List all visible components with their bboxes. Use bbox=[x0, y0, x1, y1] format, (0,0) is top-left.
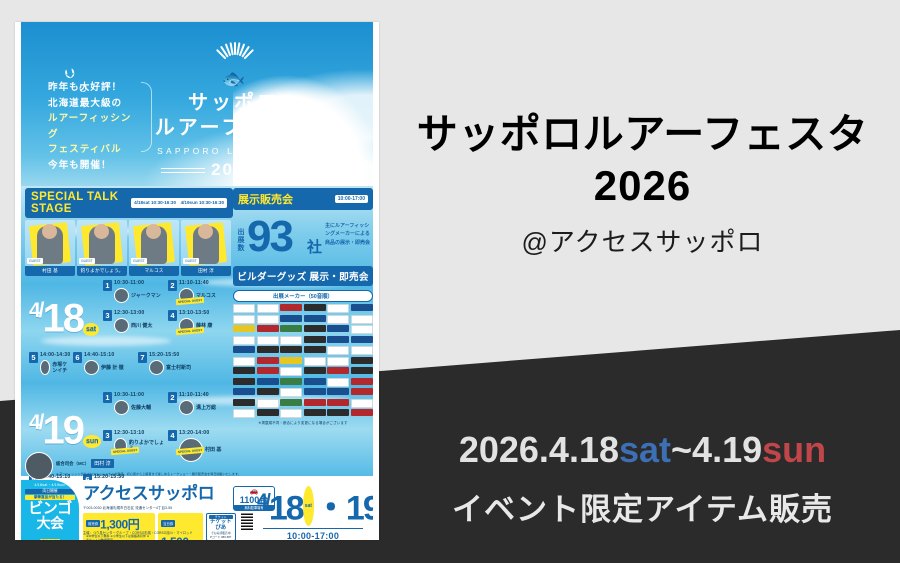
maker-logo bbox=[327, 378, 349, 387]
lead-line-5: 今年も開催！ bbox=[48, 158, 140, 174]
maker-logo bbox=[233, 336, 255, 345]
maker-logo bbox=[351, 336, 373, 343]
maker-logo bbox=[233, 378, 255, 385]
slot-guest: 富士村新司 bbox=[166, 365, 191, 371]
maker-logo bbox=[304, 388, 326, 395]
talent-tag: GUEST bbox=[79, 258, 95, 264]
maker-logo bbox=[304, 367, 326, 374]
bingo-line1: ビンゴ bbox=[21, 501, 79, 516]
talk-stage-banner: SPECIAL TALK STAGE 4/18sat 10:30-16:30 4… bbox=[25, 188, 233, 218]
talent-tag: GUEST bbox=[27, 258, 43, 264]
maker-logo bbox=[304, 409, 326, 416]
maker-logo bbox=[233, 399, 255, 406]
presenter-note: ルアーフィッシングのプロフェッショナルが集結。初心者から上級者まで楽しめるトーク… bbox=[56, 472, 369, 477]
maker-logo bbox=[257, 336, 279, 345]
maker-logo bbox=[327, 336, 349, 343]
fish-icon: 🐟 bbox=[149, 70, 319, 89]
day-1-month: 4/ bbox=[29, 299, 43, 322]
slot-time: 12:30-13:00 bbox=[114, 310, 144, 316]
slot-row: 5 14:00-14:30 赤塚ケンイチ 6 14:40-15:10 伊藤 計 … bbox=[103, 352, 233, 380]
exhibitor-count-unit: 社 bbox=[307, 236, 322, 257]
presenter-role: 総合司会（MC） bbox=[56, 461, 89, 466]
maker-logo bbox=[280, 409, 302, 418]
big-month: 4/ bbox=[257, 491, 269, 512]
poster-hours: 10:00-17:00 bbox=[257, 531, 369, 540]
day-1-day: 18 bbox=[43, 296, 84, 340]
logo-jp-line1: サッポロ bbox=[149, 91, 319, 116]
slot-row: 3 12:30-13:00 西川 健太 4 13:10-13:50 藤林 康 S… bbox=[103, 310, 233, 338]
price-row: 前売券1,300円 ※中学生以下無料 ※小学生以下は保護者同伴 ※チケットは数量… bbox=[83, 513, 253, 540]
maker-logo bbox=[233, 367, 255, 374]
maker-logo bbox=[280, 399, 302, 406]
slot-number: 4 bbox=[168, 310, 177, 321]
guest-avatar bbox=[179, 400, 194, 415]
day-2-month: 4/ bbox=[29, 411, 43, 434]
maker-logo bbox=[351, 315, 373, 324]
builder-goods-banner: ビルダーグッズ 展示・即売会 bbox=[233, 266, 373, 286]
slot-time: 14:40-15:10 bbox=[84, 352, 114, 358]
maker-logo bbox=[257, 388, 279, 395]
maker-logo bbox=[351, 304, 373, 311]
guest-avatar bbox=[149, 360, 164, 375]
event-venue: @アクセスサッポロ bbox=[385, 222, 900, 259]
poster-lead-copy: 昨年も大好評！ 北海道最大級の ルアーフィッシング フェスティバル 今年も開催！ bbox=[48, 80, 140, 173]
screenshot-root: ⮋ ⮋ 🐟 サッポロ ルアーフェスタ SAPPORO LURE FEST bbox=[0, 0, 900, 563]
maker-logo bbox=[280, 367, 302, 376]
maker-logo bbox=[257, 357, 279, 364]
maker-logo bbox=[233, 357, 255, 366]
big-day-1: 18 bbox=[269, 489, 303, 527]
maker-logo bbox=[280, 346, 302, 353]
slot-number: 5 bbox=[29, 352, 38, 363]
big-dot: ・ bbox=[314, 489, 346, 527]
slot-number: 6 bbox=[73, 352, 82, 363]
door-price: 当日券1,500円 前売券は数量限定 bbox=[158, 513, 203, 540]
maker-logo bbox=[233, 388, 255, 395]
maker-logo bbox=[327, 357, 349, 366]
slot-time: 11:10-11:40 bbox=[179, 280, 209, 286]
maker-logo bbox=[304, 399, 326, 406]
maker-logo bbox=[351, 388, 373, 395]
slot-number: 2 bbox=[168, 392, 177, 403]
event-year: 2026 bbox=[385, 162, 900, 210]
slot-number: 1 bbox=[103, 392, 112, 403]
maker-logo bbox=[327, 367, 349, 374]
logo-jp-line2: ルアーフェスタ bbox=[149, 116, 319, 141]
slot-guest: ジャークマン bbox=[131, 293, 161, 299]
lead-line-2: 北海道最大級の bbox=[48, 96, 140, 112]
door-amount: 1,500円 bbox=[161, 535, 189, 540]
advance-label: 前売券 bbox=[86, 520, 100, 527]
door-label: 当日券 bbox=[161, 520, 175, 527]
maker-logo bbox=[257, 399, 279, 408]
maker-logo bbox=[257, 346, 279, 353]
maker-logo bbox=[257, 325, 279, 332]
date-sun: sun bbox=[762, 429, 826, 470]
lead-line-3: ルアーフィッシング bbox=[48, 111, 140, 142]
day-1-date: 4/18sat bbox=[29, 292, 99, 349]
slot-number: 3 bbox=[103, 430, 112, 441]
bingo-side: 参加無料 bbox=[40, 539, 60, 540]
maker-logo bbox=[280, 325, 302, 332]
organizer-line: 主催：つり具センターグループ・CORSO札幌・CORSO旭川・マイロッド bbox=[83, 530, 193, 535]
logo-year: 2026 bbox=[211, 160, 257, 180]
slot-time: 10:30-11:00 bbox=[114, 392, 144, 398]
guest-avatar bbox=[84, 360, 99, 375]
talent-tag: GUEST bbox=[183, 258, 199, 264]
day-1-weekday: sat bbox=[83, 323, 99, 336]
access-title: アクセスサッポロ bbox=[83, 484, 253, 504]
maker-logo bbox=[257, 367, 279, 374]
event-subtitle: イベント限定アイテム販売 bbox=[385, 484, 900, 529]
maker-logo bbox=[304, 357, 326, 366]
maker-logo bbox=[351, 367, 373, 374]
talent-name: 釣りよかでしょう。 bbox=[77, 266, 127, 276]
maker-logo bbox=[233, 304, 255, 313]
maker-logo bbox=[233, 325, 255, 332]
talent-row: GUEST 村田 基 GUEST 釣りよかでしょう。 GUEST マルコス bbox=[25, 220, 233, 276]
schedule-slot: 3 12:30-13:00 西川 健太 bbox=[103, 310, 166, 338]
maker-logo bbox=[304, 378, 326, 385]
talent-card: GUEST マルコス bbox=[129, 220, 179, 276]
presenter-text: 総合司会（MC）田村 淳 ルアーフィッシングのプロフェッショナルが集結。初心者か… bbox=[56, 452, 369, 477]
logo-rule-left bbox=[161, 168, 205, 173]
slot-guest: 佐藤大輔 bbox=[131, 405, 151, 411]
bingo-sub: 4/18sat・4/19sun bbox=[21, 483, 79, 488]
schedule-slot: 1 10:30-11:00 佐藤大輔 bbox=[103, 392, 166, 420]
qr-code-icon[interactable] bbox=[241, 513, 253, 530]
slot-number: 3 bbox=[103, 310, 112, 321]
slot-row: 1 10:30-11:00 佐藤大輔 2 11:10-11:40 溝上万総 bbox=[103, 392, 233, 420]
slot-guest: 西川 健太 bbox=[131, 323, 152, 329]
exhibition-column: 展示販売会 10:00-17:00 出展数 93 社 主にルアーフィッシングメー… bbox=[233, 188, 373, 425]
maker-logo bbox=[280, 315, 302, 322]
event-date-line: 2026.4.18sat~4.19sun bbox=[385, 429, 900, 471]
guest-avatar bbox=[40, 360, 50, 375]
maker-logo bbox=[280, 378, 302, 385]
lead-brace bbox=[141, 82, 152, 152]
day-1-slots: 1 10:30-11:00 ジャークマン 2 11:10-11:40 マルコス … bbox=[103, 280, 233, 382]
ticket-block[interactable]: チケット チケットぴあ でも好評販売中 Pコード 989-587 bbox=[206, 513, 236, 540]
maker-logo bbox=[280, 357, 302, 364]
day-2-weekday: sun bbox=[83, 435, 101, 448]
guest-avatar bbox=[114, 318, 129, 333]
slot-row: 1 10:30-11:00 ジャークマン 2 11:10-11:40 マルコス … bbox=[103, 280, 233, 308]
talent-name: 村田 基 bbox=[25, 266, 75, 276]
talent-name: マルコス bbox=[129, 266, 179, 276]
lead-line-1: 昨年も大好評！ bbox=[48, 80, 140, 96]
maker-logo bbox=[351, 399, 373, 408]
maker-logo-grid bbox=[233, 304, 373, 418]
date-tilde: ~4.19 bbox=[671, 429, 762, 470]
guest-avatar bbox=[114, 288, 129, 303]
maker-logo bbox=[327, 304, 349, 313]
maker-logo bbox=[257, 304, 279, 313]
schedule-slot: 2 11:10-11:40 マルコス SPECIAL GUEST bbox=[168, 280, 231, 308]
poster-inner: ⮋ ⮋ 🐟 サッポロ ルアーフェスタ SAPPORO LURE FEST bbox=[21, 22, 373, 540]
maker-logo bbox=[257, 315, 279, 324]
presenter-avatar bbox=[25, 452, 53, 480]
access-address: 〒003-0030 北海道札幌市白石区 流通センター4丁目3-55 bbox=[83, 505, 253, 510]
poster-bottom-bar: 4/18sat・4/19sun 両日開催 豪華賞品が当たる！ ビンゴ 大会 参加… bbox=[21, 480, 373, 540]
talent-card: GUEST 村田 基 bbox=[25, 220, 75, 276]
maker-logo bbox=[327, 325, 349, 332]
makers-footer: ※掲載順不同・都合により変更になる場合がございます bbox=[233, 420, 373, 425]
logo-year-row: 2026 bbox=[149, 160, 319, 180]
maker-logo bbox=[327, 315, 349, 324]
schedule-slot: 2 11:10-11:40 溝上万総 bbox=[168, 392, 231, 420]
bingo-line2: 大会 bbox=[21, 516, 79, 530]
special-guest-badge: SPECIAL GUEST bbox=[176, 327, 205, 335]
maker-logo bbox=[351, 409, 373, 416]
presenter-name: 田村 淳 bbox=[91, 459, 113, 468]
exhibition-title: 展示販売会 bbox=[238, 191, 293, 207]
slot-number: 4 bbox=[168, 430, 177, 441]
slot-guest: 伊藤 計 徹 bbox=[101, 365, 124, 371]
poster-big-date: 4/18sat・19sun 10:00-17:00 bbox=[257, 484, 369, 540]
logo-rule-right bbox=[263, 168, 307, 173]
big-date-line: 4/18sat・19sun bbox=[257, 484, 369, 526]
maker-logo bbox=[257, 409, 279, 416]
talent-card: GUEST 釣りよかでしょう。 bbox=[77, 220, 127, 276]
maker-logo bbox=[280, 304, 302, 311]
maker-logo bbox=[257, 378, 279, 385]
maker-logo bbox=[233, 409, 255, 418]
ticket-code: Pコード 989-587 bbox=[209, 535, 233, 539]
exhibitor-count: 93 bbox=[247, 212, 292, 262]
exhibition-time: 10:00-17:00 bbox=[335, 195, 368, 203]
slot-time: 12:30-13:10 bbox=[114, 430, 144, 436]
ticket-name: チケットぴあ bbox=[209, 519, 233, 531]
big-date-rule bbox=[263, 528, 363, 529]
logo-en: SAPPORO LURE FESTA bbox=[149, 146, 319, 156]
event-title: サッポロルアーフェスタ bbox=[385, 112, 900, 158]
maker-logo bbox=[327, 388, 349, 395]
schedule-slot: 7 15:20-15:50 富士村新司 bbox=[138, 352, 201, 380]
maker-logo bbox=[233, 315, 255, 324]
maker-logo bbox=[304, 304, 326, 311]
maker-logo bbox=[304, 336, 326, 343]
exhibitor-count-label: 出展数 bbox=[235, 228, 245, 252]
slot-number: 7 bbox=[138, 352, 147, 363]
slot-time: 13:20-14:00 bbox=[179, 430, 209, 436]
exhibitor-count-block: 出展数 93 社 主にルアーフィッシングメーカーによる商品の展示・即売会 bbox=[233, 212, 373, 264]
slot-number: 2 bbox=[168, 280, 177, 291]
maker-logo bbox=[351, 325, 373, 334]
advance-price: 前売券1,300円 ※中学生以下無料 ※小学生以下は保護者同伴 ※チケットは数量… bbox=[83, 513, 155, 540]
maker-logo bbox=[280, 336, 302, 345]
schedule-day-1: 4/18sat 1 10:30-11:00 ジャークマン 2 11:10-11: bbox=[25, 280, 233, 370]
maker-logo bbox=[351, 346, 373, 355]
talent-card: GUEST 田村 淳 bbox=[181, 220, 231, 276]
date-sat: sat bbox=[619, 429, 671, 470]
slot-time: 13:10-13:50 bbox=[179, 310, 209, 316]
guest-avatar bbox=[114, 400, 129, 415]
talk-stage-times: 4/18sat 10:30-16:30 4/19sun 10:30-16:30 bbox=[131, 198, 227, 208]
big-badge-sat: sat bbox=[303, 486, 314, 526]
slot-time: 10:30-11:00 bbox=[114, 280, 144, 286]
slot-guest: 溝上万総 bbox=[196, 405, 216, 411]
logo-rays bbox=[149, 38, 319, 72]
maker-logo bbox=[327, 409, 349, 416]
talk-stage-column: SPECIAL TALK STAGE 4/18sat 10:30-16:30 4… bbox=[25, 188, 233, 482]
presenter-strip: 総合司会（MC）田村 淳 ルアーフィッシングのプロフェッショナルが集結。初心者か… bbox=[25, 452, 369, 482]
schedule-slot: 5 14:00-14:30 赤塚ケンイチ bbox=[29, 352, 71, 380]
slot-number: 1 bbox=[103, 280, 112, 291]
maker-logo bbox=[327, 346, 349, 355]
talent-tag: GUEST bbox=[131, 258, 147, 264]
slot-time: 15:20-15:50 bbox=[149, 352, 179, 358]
schedule-slot: 6 14:40-15:10 伊藤 計 徹 bbox=[73, 352, 136, 380]
exhibition-banner: 展示販売会 10:00-17:00 bbox=[233, 188, 373, 210]
maker-logo bbox=[327, 399, 349, 406]
exhibitor-desc: 主にルアーフィッシングメーカーによる商品の展示・即売会 bbox=[325, 222, 373, 247]
slot-guest: 赤塚ケンイチ bbox=[52, 362, 71, 374]
big-day-2: 19 bbox=[346, 489, 373, 527]
schedule-slot: 1 10:30-11:00 ジャークマン bbox=[103, 280, 166, 308]
maker-logo bbox=[351, 357, 373, 364]
slot-time: 14:00-14:30 bbox=[40, 352, 70, 358]
talk-stage-title: SPECIAL TALK STAGE bbox=[31, 191, 131, 215]
bingo-block: 4/18sat・4/19sun 両日開催 豪華賞品が当たる！ ビンゴ 大会 参加… bbox=[21, 480, 79, 540]
maker-logo bbox=[304, 315, 326, 322]
special-guest-badge: SPECIAL GUEST bbox=[176, 297, 205, 305]
maker-logo bbox=[351, 378, 373, 385]
makers-header: 出展メーカー（50音順） bbox=[233, 290, 373, 302]
poster-logo: 🐟 サッポロ ルアーフェスタ SAPPORO LURE FESTA 2026 〜… bbox=[149, 38, 319, 202]
bingo-sub2: 両日開催 bbox=[25, 489, 75, 494]
maker-logo bbox=[304, 325, 326, 332]
event-poster-image: ⮋ ⮋ 🐟 サッポロ ルアーフェスタ SAPPORO LURE FEST bbox=[15, 22, 379, 540]
maker-logo bbox=[233, 346, 255, 353]
schedule-slot: 4 13:10-13:50 藤林 康 SPECIAL GUEST bbox=[168, 310, 231, 338]
talent-name: 田村 淳 bbox=[181, 266, 231, 276]
maker-logo bbox=[304, 346, 326, 353]
date-prefix: 2026.4.18 bbox=[459, 429, 619, 470]
lead-line-4: フェスティバル bbox=[48, 142, 140, 158]
slot-time: 11:10-11:40 bbox=[179, 392, 209, 398]
day-2-day: 19 bbox=[43, 408, 84, 452]
maker-logo bbox=[280, 388, 302, 397]
